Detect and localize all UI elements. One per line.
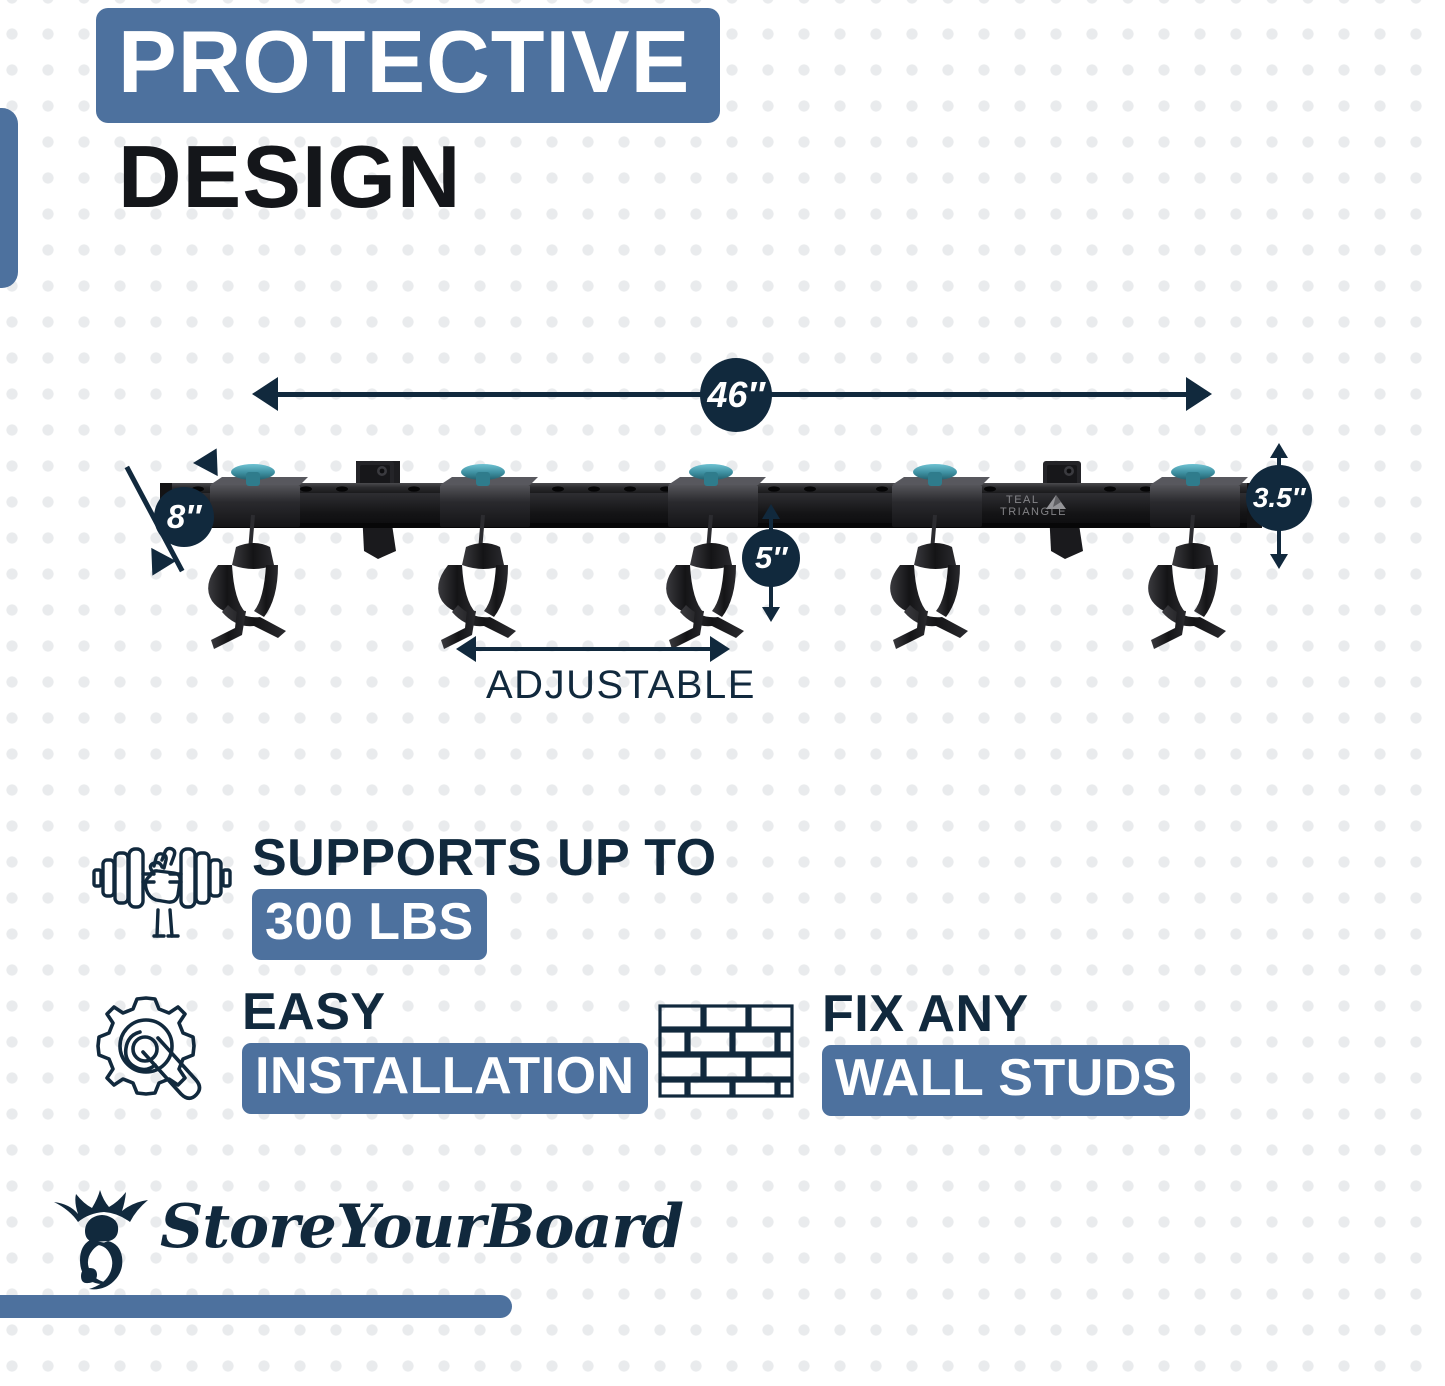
hook-assembly: [1148, 464, 1248, 649]
feature-easy-installation-line1: EASY: [242, 986, 648, 1039]
width-arrow-left-icon: [252, 377, 278, 411]
bottom-accent-bar: [0, 1295, 512, 1318]
width-arrow-right-icon: [1186, 377, 1212, 411]
hook-drop-dimension-badge: 5″: [742, 529, 800, 587]
feature-supports-weight: SUPPORTS UP TO 300 LBS: [82, 838, 702, 950]
title-highlight-badge: PROTECTIVE: [96, 8, 720, 123]
width-dimension-badge: 46″: [700, 358, 772, 432]
infographic-page: PROTECTIVE DESIGN 46″: [0, 0, 1445, 1386]
rack-illustration: TEAL TRIANGLE: [150, 455, 1270, 655]
j-hook-icon: [438, 543, 516, 649]
hook-drop-arrow-up-icon: [762, 504, 780, 519]
svg-text:TEAL: TEAL: [1006, 494, 1040, 506]
j-hook-icon: [666, 543, 744, 649]
page-title: PROTECTIVE DESIGN: [96, 8, 876, 223]
feature-wall-studs: FIX ANY WALL STUDS: [656, 1000, 1216, 1110]
adjustable-arrow-right-icon: [710, 636, 730, 662]
j-hook-icon: [208, 543, 286, 649]
feature-easy-installation-text: EASY INSTALLATION: [242, 986, 648, 1114]
adjustable-label: ADJUSTABLE: [486, 663, 756, 708]
feature-supports-weight-line1: SUPPORTS UP TO: [252, 832, 717, 885]
gear-wrench-icon: [82, 992, 222, 1102]
depth-dimension-badge: 8″: [154, 487, 214, 547]
title-highlight-text: PROTECTIVE: [118, 22, 690, 103]
feature-wall-studs-badge: WALL STUDS: [822, 1045, 1190, 1116]
dumbbell-grip-icon: [82, 838, 242, 943]
height-arrow-down-icon: [1270, 554, 1288, 569]
adjustable-arrow-left-icon: [456, 636, 476, 662]
footer-logo: StoreYourBoard: [48, 1186, 528, 1296]
adjustable-dimension-line: [466, 647, 716, 651]
hook-assembly: [208, 464, 308, 649]
feature-wall-studs-line1: FIX ANY: [822, 988, 1190, 1041]
feature-supports-weight-text: SUPPORTS UP TO 300 LBS: [252, 832, 717, 960]
feature-wall-studs-text: FIX ANY WALL STUDS: [822, 988, 1190, 1116]
rail-brand-logo: TEAL TRIANGLE: [1000, 494, 1067, 518]
feature-easy-installation-badge: INSTALLATION: [242, 1043, 648, 1114]
hook-assembly: [438, 464, 538, 649]
title-subtext: DESIGN: [118, 131, 876, 223]
feature-easy-installation: EASY INSTALLATION: [82, 992, 642, 1104]
height-arrow-up-icon: [1270, 443, 1288, 458]
brick-wall-icon: [656, 1000, 796, 1100]
seahorse-dragon-logo-icon: [48, 1186, 158, 1292]
feature-supports-weight-badge: 300 LBS: [252, 889, 487, 960]
height-dimension-badge: 3.5″: [1246, 465, 1312, 531]
hook-assembly: [890, 464, 990, 649]
left-edge-accent-bar: [0, 108, 18, 288]
hook-drop-arrow-down-icon: [762, 607, 780, 622]
j-hook-icon: [890, 543, 968, 649]
footer-logo-text: StoreYourBoard: [160, 1192, 683, 1262]
j-hook-icon: [1148, 543, 1226, 649]
